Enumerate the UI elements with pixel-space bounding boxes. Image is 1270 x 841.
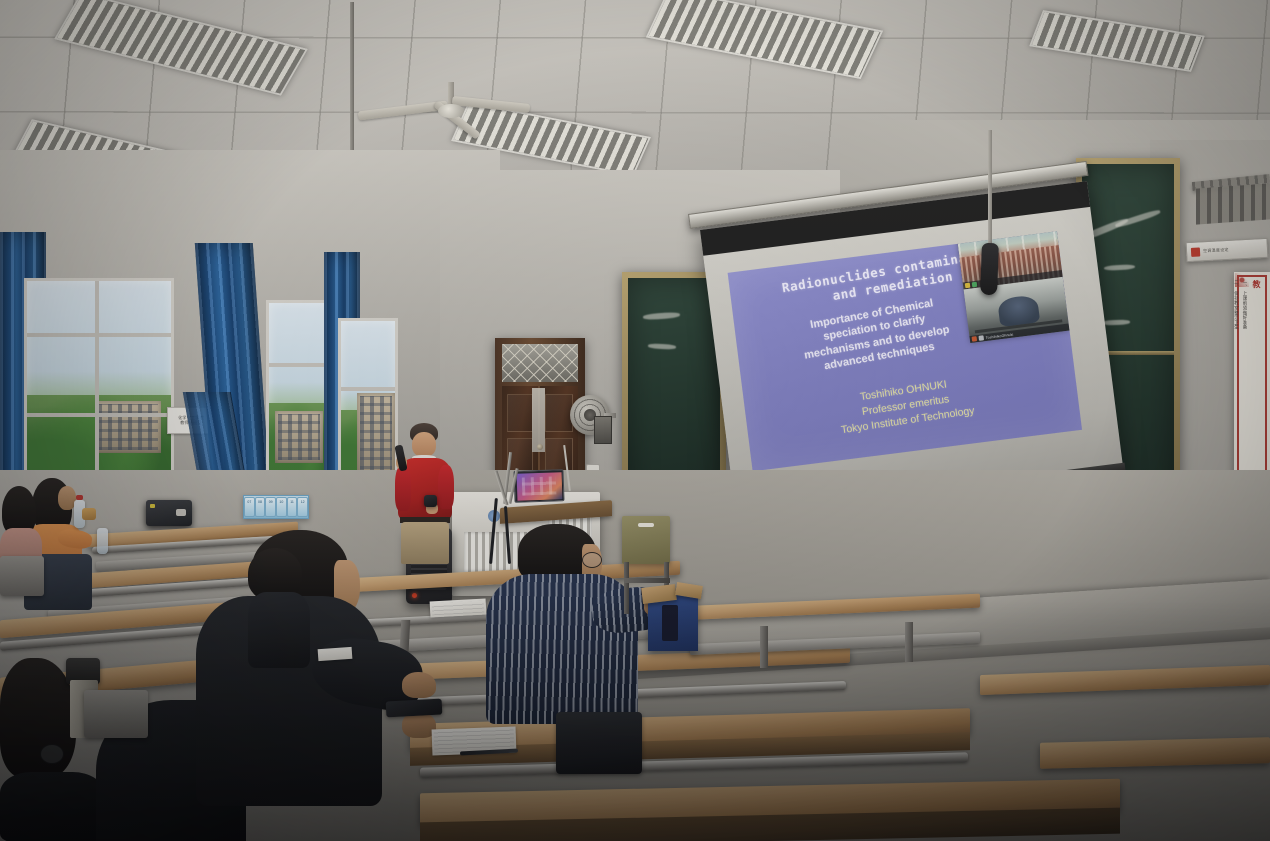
classroom-rules-poster: 教 一、 上课前须做好准备 二、 保持教室整洁卫生 三、 爱护公物设备仪器 四、… — [1234, 272, 1270, 490]
presenter-face — [412, 432, 436, 457]
tablet-device[interactable] — [513, 469, 564, 503]
window-mullion — [27, 413, 171, 417]
crate-slot: 11 — [287, 497, 298, 516]
camera-status-icon — [972, 282, 978, 288]
chair-rail — [624, 578, 670, 583]
crate-slot: 07 — [244, 497, 255, 516]
poster-rule-line: 一、 上课前须做好准备 — [1243, 280, 1249, 482]
window-view-building — [275, 411, 323, 463]
bag-tag — [150, 504, 156, 508]
bag-latch — [176, 509, 185, 516]
mic-status-icon — [965, 283, 971, 289]
attendee-hair — [0, 658, 76, 778]
classroom-seat[interactable] — [84, 690, 148, 738]
attendee-torso — [0, 772, 104, 841]
tablet-app-icons — [522, 477, 557, 495]
ceiling-fan — [390, 82, 520, 142]
smartphone[interactable] — [386, 699, 443, 718]
fan-control-box[interactable] — [594, 416, 612, 444]
presenter-arm-right — [438, 465, 454, 509]
chair-leg — [624, 562, 629, 614]
window-mullion — [269, 363, 331, 367]
window-view-building — [95, 401, 161, 453]
window-mullion — [27, 333, 171, 337]
participant-name: ToshihikoOhnuki — [985, 332, 1013, 339]
projected-slide: Radionuclides contamination and remediat… — [728, 231, 1082, 471]
box-slot-opening — [662, 605, 678, 641]
video-conference-panel[interactable]: ToshihikoOhnuki — [956, 231, 1070, 343]
crate-slot: 09 — [265, 497, 276, 516]
door-transom-grille — [502, 344, 578, 382]
fan-hub — [438, 104, 464, 118]
classroom-seat[interactable] — [0, 556, 44, 596]
slide-author-block: Toshihiko OHNUKI Professor emeritus Toky… — [794, 368, 1018, 445]
attendee-behind-center — [248, 548, 318, 668]
ac-panel-text: 空调温度设定 — [1203, 247, 1229, 254]
handout-papers[interactable] — [318, 647, 353, 661]
brand-logo-icon — [1191, 247, 1200, 256]
classroom-seat[interactable] — [556, 712, 642, 774]
attendee-hand — [402, 672, 436, 698]
attendee-shirt — [248, 592, 310, 668]
bench-leg — [905, 622, 913, 662]
presenter-clicker[interactable] — [424, 495, 437, 507]
water-bottle[interactable] — [97, 528, 108, 554]
mic-status-icon — [972, 336, 978, 342]
ceiling-cable-tray — [1196, 183, 1270, 224]
camera-bag — [146, 500, 192, 526]
bottled-water-crate: 07 08 09 10 11 12 — [243, 495, 309, 519]
eyeglasses — [582, 552, 602, 568]
ac-control-panel[interactable]: 空调温度设定 — [1186, 238, 1269, 262]
bench-leg — [760, 626, 768, 668]
lecture-hall-photo: 化学化工学院 教师值班室 — [0, 0, 1270, 841]
tablet-screen — [516, 472, 562, 501]
door-poster-strip — [532, 388, 545, 452]
crate-slot: 08 — [255, 497, 266, 516]
paper-text-lines — [432, 601, 485, 616]
recycle-box[interactable] — [648, 595, 698, 651]
hanging-microphone-cable — [350, 2, 354, 162]
crate-slot: 10 — [276, 497, 287, 516]
presenter-arm-left — [395, 465, 411, 511]
bottle-cap — [76, 495, 83, 500]
window-mullion — [341, 387, 395, 391]
door-knob[interactable] — [537, 444, 543, 450]
camera-status-icon — [978, 335, 984, 341]
poster-rule-line: 二、 保持教室整洁卫生 — [1234, 280, 1240, 482]
chair-handle-slot — [638, 523, 653, 527]
hanging-microphone-cable — [988, 130, 992, 248]
poster-heading: 教 — [1251, 280, 1262, 482]
classroom-chair[interactable] — [622, 516, 670, 564]
hanging-microphone — [980, 243, 999, 296]
handout-papers[interactable] — [430, 599, 487, 618]
snack-item — [82, 508, 96, 520]
poster-text-block: 教 一、 上课前须做好准备 二、 保持教室整洁卫生 三、 爱护公物设备仪器 四、… — [1242, 280, 1262, 482]
eyeglasses — [40, 744, 64, 764]
crate-slot: 12 — [297, 497, 308, 516]
